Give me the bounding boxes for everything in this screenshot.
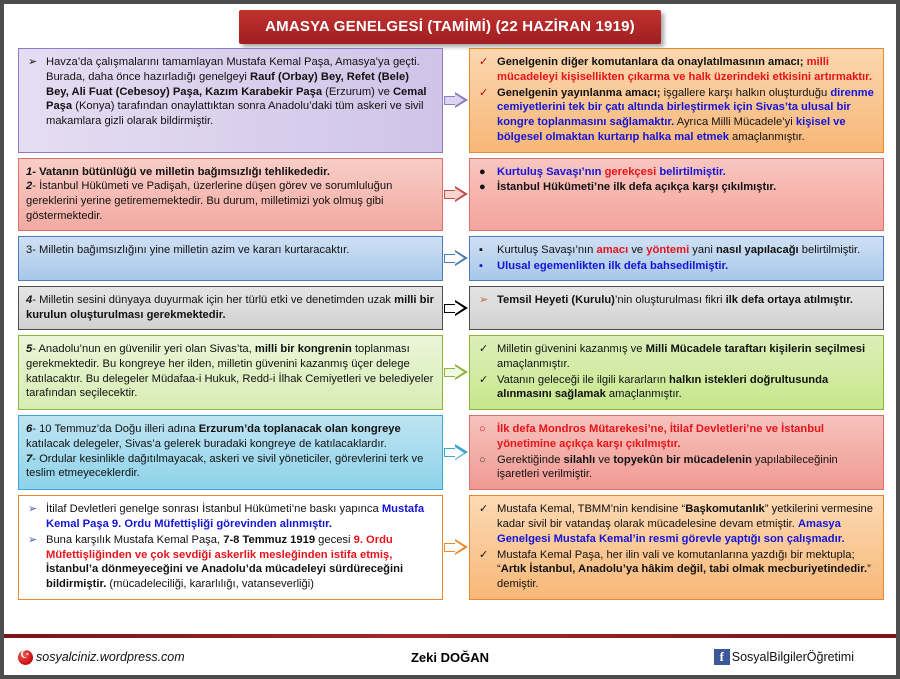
footer-website-label: sosyalciniz.wordpress.com <box>36 650 185 664</box>
table-row: 3- Milletin bağımsızlığını yine milletin… <box>18 236 884 282</box>
row-2-left-panel: 1- Vatanın bütünlüğü ve milletin bağımsı… <box>18 158 443 231</box>
square-bullet-icon: ▪ <box>479 259 483 274</box>
row-2-arrow <box>443 158 469 231</box>
list-item: ➢ Temsil Heyeti (Kurulu)’nin oluşturulma… <box>477 293 875 308</box>
row-7-right-panel: ✓ Mustafa Kemal, TBMM’nin kendisine “Baş… <box>469 495 884 600</box>
check-icon: ✓ <box>479 55 488 70</box>
list-item-text: İtilaf Devletleri genelge sonrası İstanb… <box>46 503 424 530</box>
arrow-bullet-icon: ➢ <box>28 55 37 70</box>
row-4-arrow <box>443 286 469 330</box>
circle-bullet-icon: ○ <box>479 453 486 468</box>
list-item: ➢ Buna karşılık Mustafa Kemal Paşa, 7-8 … <box>26 533 434 592</box>
row-1-right-panel: ✓ Genelgenin diğer komutanlara da onayla… <box>469 48 884 153</box>
list-item: ▪ Kurtuluş Savaşı’nın amacı ve yöntemi y… <box>477 243 875 258</box>
list-item-text: Kurtuluş Savaşı’nın amacı ve yöntemi yan… <box>497 244 860 256</box>
row-3-left-text: 3- Milletin bağımsızlığını yine milletin… <box>26 243 434 258</box>
page-title: AMASYA GENELGESİ (TAMİMİ) (22 HAZİRAN 19… <box>239 10 661 44</box>
list-item-text: Genelgenin diğer komutanlara da onaylatı… <box>497 56 872 83</box>
table-row: 5- Anadolu’nun en güvenilir yeri olan Si… <box>18 335 884 410</box>
row-3-right-panel: ▪ Kurtuluş Savaşı’nın amacı ve yöntemi y… <box>469 236 884 282</box>
footer-facebook[interactable]: f SosyalBilgilerÖğretimi <box>714 649 854 665</box>
table-row: 6- 10 Temmuz’da Doğu illeri adına Erzuru… <box>18 415 884 490</box>
list-item-text: Genelgenin yayınlanma amacı; işgallere k… <box>497 87 874 143</box>
row-1-left-panel: ➢ Havza’da çalışmalarını tamamlayan Must… <box>18 48 443 153</box>
check-icon: ✓ <box>479 342 488 357</box>
list-item: ✓ Genelgenin yayınlanma amacı; işgallere… <box>477 86 875 145</box>
list-item: ✓ Genelgenin diğer komutanlara da onayla… <box>477 55 875 85</box>
list-item-text: İlk defa Mondros Mütarekesi’ne, İtilaf D… <box>497 423 824 450</box>
list-item: ○ İlk defa Mondros Mütarekesi’ne, İtilaf… <box>477 422 875 452</box>
check-icon: ✓ <box>479 502 488 517</box>
list-item: ➢ Havza’da çalışmalarını tamamlayan Must… <box>26 55 434 129</box>
row-4-left-text: 4- Milletin sesini dünyaya duyurmak için… <box>26 293 434 323</box>
turkey-flag-icon <box>18 650 33 665</box>
circle-bullet-icon: ○ <box>479 422 486 437</box>
list-item: ▪ Ulusal egemenlikten ilk defa bahsedilm… <box>477 259 875 274</box>
row-6-left-panel: 6- 10 Temmuz’da Doğu illeri adına Erzuru… <box>18 415 443 490</box>
row-3-arrow <box>443 236 469 282</box>
right-arrow-icon <box>444 300 468 317</box>
list-item-text: Kurtuluş Savaşı’nın gerekçesi belirtilmi… <box>497 166 726 178</box>
infographic-page: AMASYA GENELGESİ (TAMİMİ) (22 HAZİRAN 19… <box>4 4 896 675</box>
list-item: ● Kurtuluş Savaşı’nın gerekçesi belirtil… <box>477 165 875 180</box>
list-item: ➢ İtilaf Devletleri genelge sonrası İsta… <box>26 502 434 532</box>
row-4-left-panel: 4- Milletin sesini dünyaya duyurmak için… <box>18 286 443 330</box>
list-item-text: Temsil Heyeti (Kurulu)’nin oluşturulması… <box>497 294 853 306</box>
table-row: ➢ Havza’da çalışmalarını tamamlayan Must… <box>18 48 884 153</box>
row-5-left-panel: 5- Anadolu’nun en güvenilir yeri olan Si… <box>18 335 443 410</box>
row-4-right-panel: ➢ Temsil Heyeti (Kurulu)’nin oluşturulma… <box>469 286 884 330</box>
content-rows: ➢ Havza’da çalışmalarını tamamlayan Must… <box>18 48 884 605</box>
right-arrow-icon <box>444 539 468 556</box>
bullet-icon: ● <box>479 180 486 195</box>
list-item: ● İstanbul Hükümeti’ne ilk defa açıkça k… <box>477 180 875 195</box>
table-row: ➢ İtilaf Devletleri genelge sonrası İsta… <box>18 495 884 600</box>
list-item-text: Vatanın geleceği ile ilgili kararların h… <box>497 374 828 401</box>
list-item-text: İstanbul Hükümeti’ne ilk defa açıkça kar… <box>497 181 776 193</box>
list-item: ○ Gerektiğinde silahlı ve topyekûn bir m… <box>477 453 875 483</box>
row-7-arrow <box>443 495 469 600</box>
footer: Zeki DOĞAN sosyalciniz.wordpress.com f S… <box>4 638 896 675</box>
square-bullet-icon: ▪ <box>479 243 483 258</box>
table-row: 4- Milletin sesini dünyaya duyurmak için… <box>18 286 884 330</box>
right-arrow-icon <box>444 364 468 381</box>
check-icon: ✓ <box>479 548 488 563</box>
list-item-text: Ulusal egemenlikten ilk defa bahsedilmiş… <box>497 260 728 272</box>
right-arrow-icon <box>444 444 468 461</box>
list-item: ✓ Vatanın geleceği ile ilgili kararların… <box>477 373 875 403</box>
row-5-arrow <box>443 335 469 410</box>
list-item-text: Mustafa Kemal Paşa, her ilin vali ve kom… <box>497 549 871 591</box>
list-item-text: Milletin güvenini kazanmış ve Milli Müca… <box>497 343 865 370</box>
arrow-bullet-icon: ➢ <box>28 533 37 548</box>
right-arrow-icon <box>444 186 468 203</box>
right-arrow-icon <box>444 92 468 109</box>
row-6-left-text: 6- 10 Temmuz’da Doğu illeri adına Erzuru… <box>26 422 434 481</box>
row-2-right-panel: ● Kurtuluş Savaşı’nın gerekçesi belirtil… <box>469 158 884 231</box>
row-5-left-text: 5- Anadolu’nun en güvenilir yeri olan Si… <box>26 342 434 401</box>
list-item-text: Mustafa Kemal, TBMM’nin kendisine “Başko… <box>497 503 873 545</box>
list-item-text: Gerektiğinde silahlı ve topyekûn bir müc… <box>497 454 838 481</box>
right-arrow-icon <box>444 250 468 267</box>
row-5-right-panel: ✓ Milletin güvenini kazanmış ve Milli Mü… <box>469 335 884 410</box>
list-item-text: Havza’da çalışmalarını tamamlayan Mustaf… <box>46 56 427 127</box>
list-item: ✓ Mustafa Kemal, TBMM’nin kendisine “Baş… <box>477 502 875 546</box>
footer-website[interactable]: sosyalciniz.wordpress.com <box>18 650 185 665</box>
title-wrapper: AMASYA GENELGESİ (TAMİMİ) (22 HAZİRAN 19… <box>4 10 896 44</box>
row-7-left-panel: ➢ İtilaf Devletleri genelge sonrası İsta… <box>18 495 443 600</box>
arrow-bullet-icon: ➢ <box>28 502 37 517</box>
bullet-icon: ● <box>479 165 486 180</box>
check-icon: ✓ <box>479 373 488 388</box>
row-1-arrow <box>443 48 469 153</box>
list-item: ✓ Milletin güvenini kazanmış ve Milli Mü… <box>477 342 875 372</box>
list-item: ✓ Mustafa Kemal Paşa, her ilin vali ve k… <box>477 548 875 592</box>
list-item-text: Buna karşılık Mustafa Kemal Paşa, 7-8 Te… <box>46 534 403 590</box>
footer-facebook-label: SosyalBilgilerÖğretimi <box>732 650 854 664</box>
arrow-bullet-icon: ➢ <box>479 293 488 308</box>
check-icon: ✓ <box>479 86 488 101</box>
facebook-icon: f <box>714 649 730 665</box>
row-6-arrow <box>443 415 469 490</box>
row-6-right-panel: ○ İlk defa Mondros Mütarekesi’ne, İtilaf… <box>469 415 884 490</box>
row-3-left-panel: 3- Milletin bağımsızlığını yine milletin… <box>18 236 443 282</box>
row-2-left-text: 1- Vatanın bütünlüğü ve milletin bağımsı… <box>26 165 434 224</box>
table-row: 1- Vatanın bütünlüğü ve milletin bağımsı… <box>18 158 884 231</box>
